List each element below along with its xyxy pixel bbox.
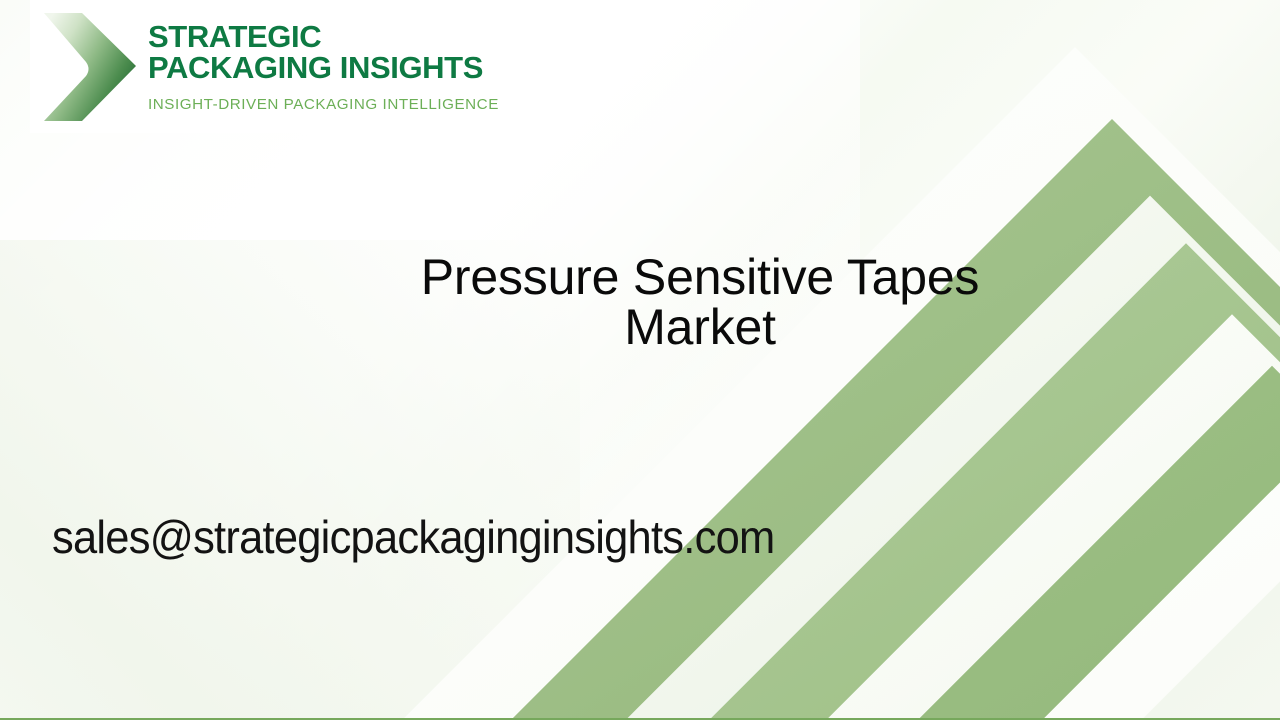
- brand-tagline: INSIGHT-DRIVEN PACKAGING INTELLIGENCE: [148, 96, 499, 113]
- slide-title-line-2: Market: [320, 302, 1080, 352]
- brand-name-line-1: STRATEGIC: [148, 22, 499, 53]
- slide-title-line-1: Pressure Sensitive Tapes: [320, 252, 1080, 302]
- chevron-arrow-icon: [38, 7, 142, 127]
- brand-name-line-2: PACKAGING INSIGHTS: [148, 53, 499, 84]
- presentation-slide: STRATEGIC PACKAGING INSIGHTS INSIGHT-DRI…: [0, 0, 1280, 720]
- slide-title: Pressure Sensitive Tapes Market: [320, 252, 1080, 352]
- brand-logo-card: STRATEGIC PACKAGING INSIGHTS INSIGHT-DRI…: [30, 0, 548, 133]
- contact-email[interactable]: sales@strategicpackaginginsights.com: [52, 513, 774, 561]
- brand-wordmark: STRATEGIC PACKAGING INSIGHTS INSIGHT-DRI…: [148, 20, 499, 113]
